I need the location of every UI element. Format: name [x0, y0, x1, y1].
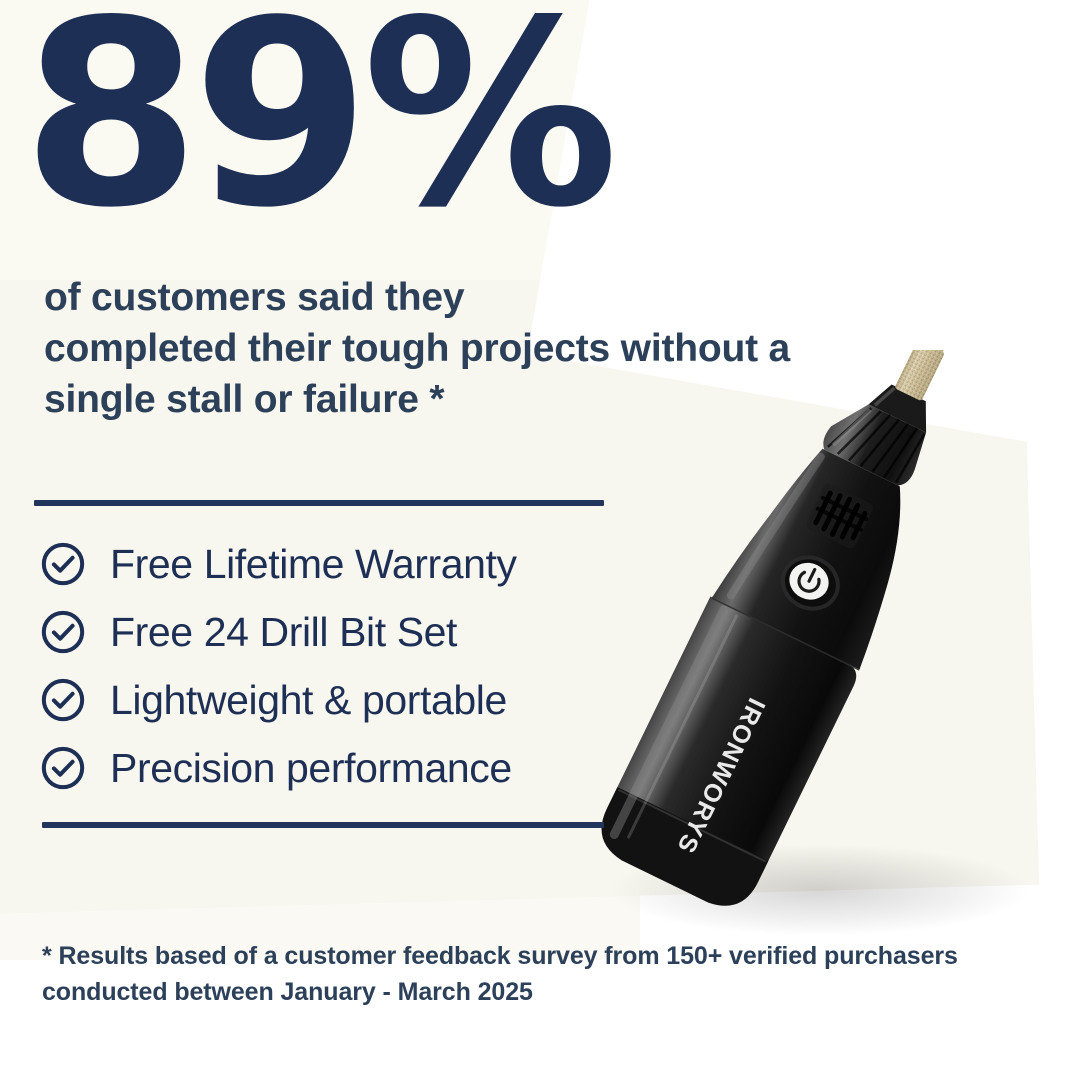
marketing-card: 89% of customers said they completed the…	[0, 0, 1080, 1080]
feature-label: Free Lifetime Warranty	[110, 541, 517, 587]
end-cap-seam	[618, 790, 765, 862]
subheadline-line-3: single stall or failure *	[44, 374, 974, 425]
footnote-line-1: * Results based of a customer feedback s…	[42, 938, 1042, 974]
product-image-rotary-tool: IRONWORYS	[520, 350, 1080, 950]
power-symbol-icon	[796, 565, 824, 594]
footnote: * Results based of a customer feedback s…	[42, 938, 1042, 1010]
barrel-highlight	[614, 610, 724, 835]
feature-label: Precision performance	[110, 745, 512, 791]
subheadline-line-2: completed their tough projects without a	[44, 323, 974, 374]
housing-highlight	[731, 448, 821, 604]
feature-label: Free 24 Drill Bit Set	[110, 609, 457, 655]
features-block: Free Lifetime Warranty Free 24 Drill Bit…	[32, 500, 604, 828]
list-item[interactable]: Free 24 Drill Bit Set	[40, 598, 604, 666]
circle-check-icon	[40, 677, 86, 723]
power-button	[772, 546, 850, 621]
feature-list: Free Lifetime Warranty Free 24 Drill Bit…	[32, 506, 604, 822]
circle-check-icon	[40, 609, 86, 655]
product-shadow	[610, 844, 1030, 936]
motor-housing	[712, 434, 939, 669]
body-seam	[712, 597, 859, 669]
stat-value: 89%	[22, 0, 642, 244]
brand-label: IRONWORYS	[671, 694, 770, 859]
footnote-line-2: conducted between January - March 2025	[42, 974, 1042, 1010]
battery-barrel	[591, 597, 861, 915]
end-cap	[589, 787, 768, 918]
stat-block: 89%	[22, 0, 642, 244]
list-item[interactable]: Lightweight & portable	[40, 666, 604, 734]
circle-check-icon	[40, 745, 86, 791]
feature-label: Lightweight & portable	[110, 677, 507, 723]
circle-check-icon	[40, 541, 86, 587]
list-item[interactable]: Free Lifetime Warranty	[40, 530, 604, 598]
divider-bottom	[42, 822, 604, 828]
subheadline-line-1: of customers said they	[44, 272, 974, 323]
vent-slots	[804, 482, 874, 551]
list-item[interactable]: Precision performance	[40, 734, 604, 802]
barrel-highlight-thin	[629, 616, 737, 837]
subheadline: of customers said they completed their t…	[44, 272, 974, 425]
